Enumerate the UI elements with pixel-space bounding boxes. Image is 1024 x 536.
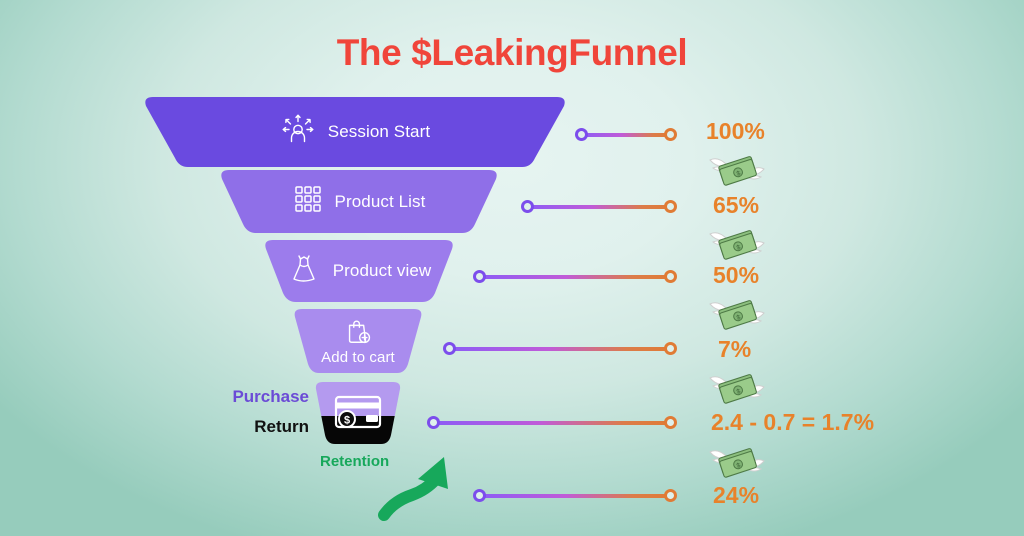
connector-bar: [448, 347, 672, 351]
metric-value-6: 24%: [713, 482, 759, 509]
money-with-wings-icon: $: [706, 222, 768, 262]
connector-start-dot: [521, 200, 534, 213]
user-arrows-icon: [280, 112, 316, 153]
money-with-wings-icon: $: [706, 292, 768, 332]
connector-end-dot: [664, 416, 677, 429]
funnel-stage-product-list[interactable]: Product List: [219, 170, 499, 233]
connector-line-4: [443, 341, 677, 357]
connector-end-dot: [664, 342, 677, 355]
connector-line-3: [473, 269, 677, 285]
connector-line-5: [427, 415, 677, 431]
dress-icon: [287, 252, 321, 291]
return-label: Return: [254, 417, 309, 437]
funnel-stage-session-start[interactable]: Session Start: [143, 97, 567, 167]
funnel-stage-label: Session Start: [328, 122, 430, 142]
connector-bar: [526, 205, 672, 209]
connector-start-dot: [575, 128, 588, 141]
metric-value-5: 2.4 - 0.7 = 1.7%: [711, 409, 874, 436]
metric-value-3: 50%: [713, 262, 759, 289]
connector-bar: [478, 275, 672, 279]
funnel-stage-label: Product view: [333, 261, 432, 281]
purchase-label: Purchase: [232, 387, 309, 407]
funnel-stage-purchase-return[interactable]: $ Purchase Return: [315, 382, 401, 444]
connector-end-dot: [664, 200, 677, 213]
funnel-stage-label: Product List: [335, 192, 426, 212]
money-with-wings-icon: $: [706, 366, 768, 406]
connector-line-1: [575, 127, 677, 143]
connector-line-2: [521, 199, 677, 215]
funnel-stage-product-view[interactable]: Product view: [263, 240, 455, 302]
connector-end-dot: [664, 128, 677, 141]
credit-card-dollar-icon: $: [332, 392, 384, 437]
funnel-stage-add-to-cart[interactable]: Add to cart: [293, 309, 423, 373]
connector-start-dot: [443, 342, 456, 355]
svg-text:$: $: [344, 414, 350, 426]
infographic-canvas: The $LeakingFunnel Session Start: [0, 0, 1024, 536]
metric-value-2: 65%: [713, 192, 759, 219]
shopping-bag-add-icon: [343, 316, 373, 351]
connector-end-dot: [664, 270, 677, 283]
money-with-wings-icon: $: [706, 148, 768, 188]
page-title: The $LeakingFunnel: [0, 32, 1024, 74]
money-with-wings-icon: $: [706, 440, 768, 480]
grid-icon: [293, 184, 323, 219]
funnel-stage-label: Add to cart: [321, 349, 395, 366]
connector-end-dot: [664, 489, 677, 502]
connector-bar: [580, 133, 672, 137]
connector-start-dot: [427, 416, 440, 429]
connector-bar: [478, 494, 672, 498]
metric-value-4: 7%: [718, 336, 751, 363]
connector-line-6: [473, 488, 677, 504]
connector-start-dot: [473, 270, 486, 283]
metric-value-1: 100%: [706, 118, 765, 145]
connector-start-dot: [473, 489, 486, 502]
connector-bar: [432, 421, 672, 425]
curved-up-arrow-icon: [378, 443, 460, 521]
